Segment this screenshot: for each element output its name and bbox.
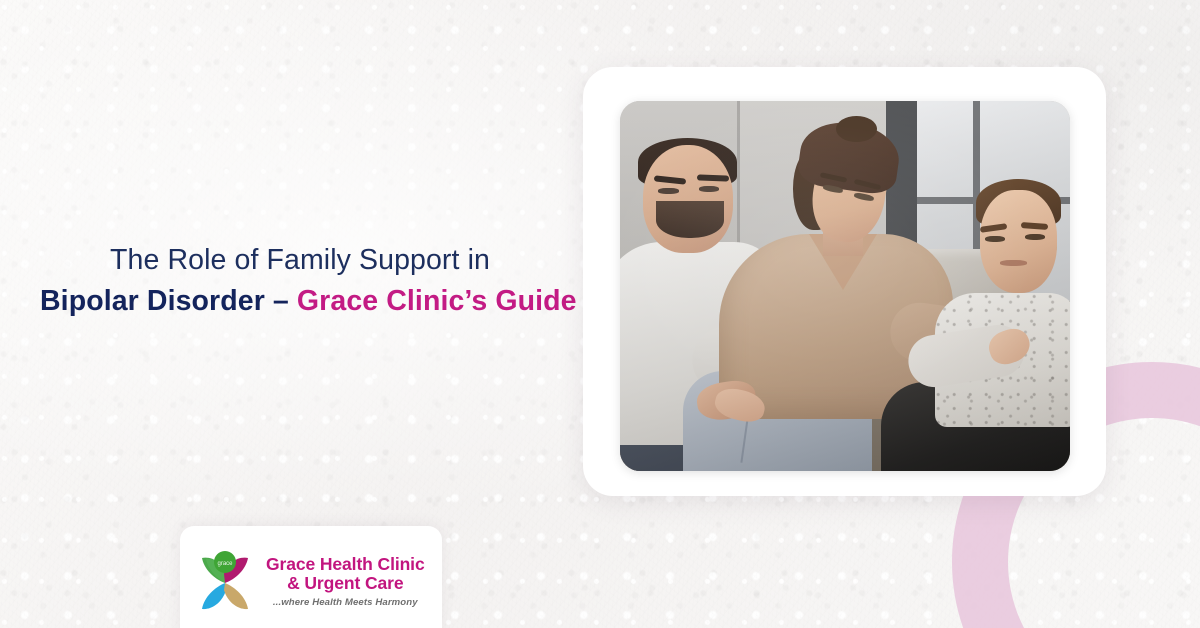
headline-line-1: The Role of Family Support in [40, 240, 560, 280]
mother-hair-bun [836, 116, 877, 142]
logo-head-glyph: grace [217, 561, 233, 567]
logo-tagline: ...where Health Meets Harmony [266, 597, 425, 609]
logo-name-line-2: & Urgent Care [266, 574, 425, 593]
logo-petal-tan-lower [224, 583, 248, 609]
father-brow-right [696, 174, 728, 181]
headline-topic: Bipolar Disorder [40, 285, 265, 317]
headline: The Role of Family Support in Bipolar Di… [40, 240, 560, 321]
logo-name-line-1: Grace Health Clinic [266, 555, 425, 574]
boy-mouth [1000, 260, 1027, 266]
headline-line-2: Bipolar Disorder – Grace Clinic’s Guide [40, 281, 560, 321]
father-beard [656, 201, 724, 238]
father-eye-right [699, 186, 719, 192]
logo-petal-blue-lower [202, 583, 226, 609]
blog-banner: The Role of Family Support in Bipolar Di… [0, 0, 1200, 628]
family-photo [620, 101, 1070, 471]
logo-text: Grace Health Clinic & Urgent Care ...whe… [266, 553, 425, 609]
headline-dash: – [265, 285, 297, 317]
headline-accent: Grace Clinic’s Guide [297, 285, 577, 317]
boy-eye-left [985, 236, 1005, 242]
father-eye-left [658, 188, 678, 194]
grace-health-clinic-logo-icon: grace [194, 545, 256, 617]
logo-card[interactable]: grace Grace Health Clinic & Urgent Care … [180, 526, 442, 628]
photo-scene [620, 101, 1070, 471]
